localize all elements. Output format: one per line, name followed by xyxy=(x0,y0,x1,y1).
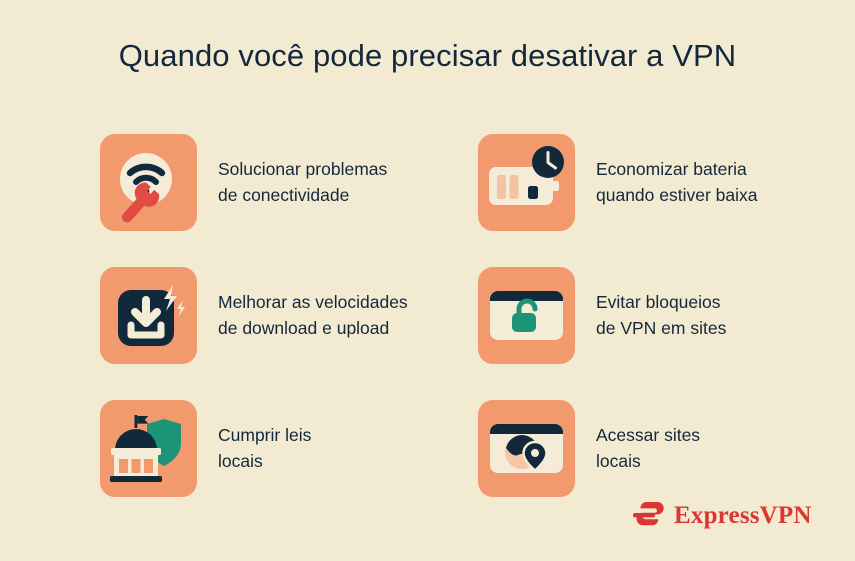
list-item-label: Solucionar problemas de conectividade xyxy=(218,157,387,207)
capitol-shield-icon xyxy=(100,400,197,497)
infographic-page: Quando você pode precisar desativar a VP… xyxy=(0,0,855,561)
list-item: Melhorar as velocidades de download e up… xyxy=(100,249,478,382)
expressvpn-logo: ExpressVPN xyxy=(633,500,812,530)
list-item-label: Melhorar as velocidades de download e up… xyxy=(218,290,408,340)
list-item-label: Cumprir leis locais xyxy=(218,423,311,473)
list-item: Solucionar problemas de conectividade xyxy=(100,116,478,249)
browser-map-pin-icon xyxy=(478,400,575,497)
list-item: Cumprir leis locais xyxy=(100,382,478,515)
list-item: Acessar sites locais xyxy=(478,382,855,515)
list-item-label: Evitar bloqueios de VPN em sites xyxy=(596,290,726,340)
list-item-label: Economizar bateria quando estiver baixa xyxy=(596,157,758,207)
list-item: Evitar bloqueios de VPN em sites xyxy=(478,249,855,382)
benefits-grid: Solucionar problemas de conectividade Ec… xyxy=(100,116,855,515)
browser-unlock-icon xyxy=(478,267,575,364)
list-item-label: Acessar sites locais xyxy=(596,423,700,473)
list-item: Economizar bateria quando estiver baixa xyxy=(478,116,855,249)
grid-row: Cumprir leis locais Acessar sites locais xyxy=(100,382,855,515)
grid-row: Melhorar as velocidades de download e up… xyxy=(100,249,855,382)
brand-name: ExpressVPN xyxy=(674,503,812,528)
download-bolt-icon xyxy=(100,267,197,364)
page-title: Quando você pode precisar desativar a VP… xyxy=(0,38,855,74)
battery-clock-icon xyxy=(478,134,575,231)
wifi-wrench-icon xyxy=(100,134,197,231)
grid-row: Solucionar problemas de conectividade Ec… xyxy=(100,116,855,249)
expressvpn-e-mark-icon xyxy=(633,500,665,530)
